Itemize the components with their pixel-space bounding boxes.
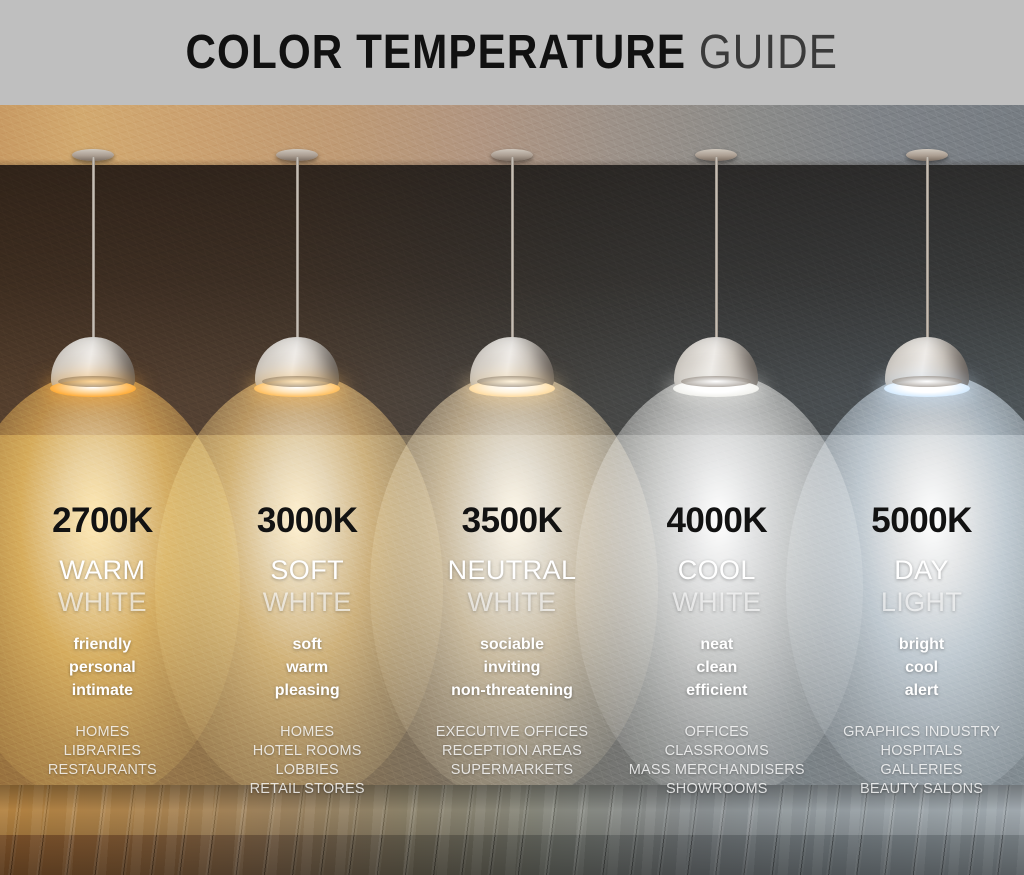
- trait-list: brightcoolalert: [819, 633, 1024, 703]
- trait-item: bright: [819, 633, 1024, 656]
- use-case-item: LIBRARIES: [0, 742, 205, 761]
- use-case-list: HOMESLIBRARIESRESTAURANTS: [0, 723, 205, 780]
- temperature-name-line2: WHITE: [410, 587, 615, 619]
- temperature-name-line1: WARM: [0, 555, 205, 587]
- use-case-item: RETAIL STORES: [205, 780, 410, 799]
- page-title-guide: GUIDE: [699, 26, 838, 79]
- trait-item: inviting: [410, 656, 615, 679]
- use-case-item: SHOWROOMS: [614, 780, 819, 799]
- use-case-item: OFFICES: [614, 723, 819, 742]
- use-case-list: OFFICESCLASSROOMSMASS MERCHANDISERSSHOWR…: [614, 723, 819, 798]
- kelvin-value: 3000K: [205, 503, 410, 538]
- kelvin-value: 4000K: [614, 503, 819, 538]
- trait-item: clean: [614, 656, 819, 679]
- trait-item: alert: [819, 679, 1024, 702]
- color-temperature-poster: COLOR TEMPERATURE GUIDE 2700KWARMWHITEfr…: [0, 0, 1024, 875]
- temperature-name-line2: WHITE: [205, 587, 410, 619]
- temperature-name: COOLWHITE: [614, 555, 819, 619]
- use-case-item: HOMES: [205, 723, 410, 742]
- temperature-name-line2: LIGHT: [819, 587, 1024, 619]
- temperature-columns: 2700KWARMWHITEfriendlypersonalintimateHO…: [0, 105, 1024, 875]
- use-case-item: GRAPHICS INDUSTRY: [819, 723, 1024, 742]
- temperature-name: WARMWHITE: [0, 555, 205, 619]
- kelvin-value: 3500K: [410, 503, 615, 538]
- temperature-name-line1: NEUTRAL: [410, 555, 615, 587]
- trait-list: softwarmpleasing: [205, 633, 410, 703]
- trait-list: sociableinvitingnon-threatening: [410, 633, 615, 703]
- temperature-name-line2: WHITE: [0, 587, 205, 619]
- trait-item: non-threatening: [410, 679, 615, 702]
- use-case-item: RESTAURANTS: [0, 761, 205, 780]
- use-case-item: MASS MERCHANDISERS: [614, 761, 819, 780]
- use-case-list: GRAPHICS INDUSTRYHOSPITALSGALLERIESBEAUT…: [819, 723, 1024, 798]
- use-case-list: HOMESHOTEL ROOMSLOBBIESRETAIL STORES: [205, 723, 410, 798]
- use-case-item: GALLERIES: [819, 761, 1024, 780]
- trait-list: friendlypersonalintimate: [0, 633, 205, 703]
- use-case-item: EXECUTIVE OFFICES: [410, 723, 615, 742]
- use-case-item: SUPERMARKETS: [410, 761, 615, 780]
- trait-item: efficient: [614, 679, 819, 702]
- trait-item: warm: [205, 656, 410, 679]
- use-case-item: HOMES: [0, 723, 205, 742]
- kelvin-value: 5000K: [819, 503, 1024, 538]
- temperature-name: DAYLIGHT: [819, 555, 1024, 619]
- page-title-light: [686, 26, 699, 79]
- use-case-item: CLASSROOMS: [614, 742, 819, 761]
- temperature-name: SOFTWHITE: [205, 555, 410, 619]
- temperature-name: NEUTRALWHITE: [410, 555, 615, 619]
- temperature-name-line2: WHITE: [614, 587, 819, 619]
- trait-item: personal: [0, 656, 205, 679]
- use-case-item: HOSPITALS: [819, 742, 1024, 761]
- trait-item: intimate: [0, 679, 205, 702]
- temperature-name-line1: COOL: [614, 555, 819, 587]
- trait-item: friendly: [0, 633, 205, 656]
- trait-item: neat: [614, 633, 819, 656]
- use-case-item: RECEPTION AREAS: [410, 742, 615, 761]
- trait-item: pleasing: [205, 679, 410, 702]
- trait-item: cool: [819, 656, 1024, 679]
- use-case-item: BEAUTY SALONS: [819, 780, 1024, 799]
- temperature-name-line1: DAY: [819, 555, 1024, 587]
- trait-item: soft: [205, 633, 410, 656]
- trait-list: neatcleanefficient: [614, 633, 819, 703]
- use-case-list: EXECUTIVE OFFICESRECEPTION AREASSUPERMAR…: [410, 723, 615, 780]
- page-title-strong: COLOR TEMPERATURE: [186, 26, 687, 79]
- trait-item: sociable: [410, 633, 615, 656]
- use-case-item: HOTEL ROOMS: [205, 742, 410, 761]
- temperature-name-line1: SOFT: [205, 555, 410, 587]
- page-title: COLOR TEMPERATURE GUIDE: [186, 29, 838, 77]
- kelvin-value: 2700K: [0, 503, 205, 538]
- poster-header: COLOR TEMPERATURE GUIDE: [0, 0, 1024, 105]
- use-case-item: LOBBIES: [205, 761, 410, 780]
